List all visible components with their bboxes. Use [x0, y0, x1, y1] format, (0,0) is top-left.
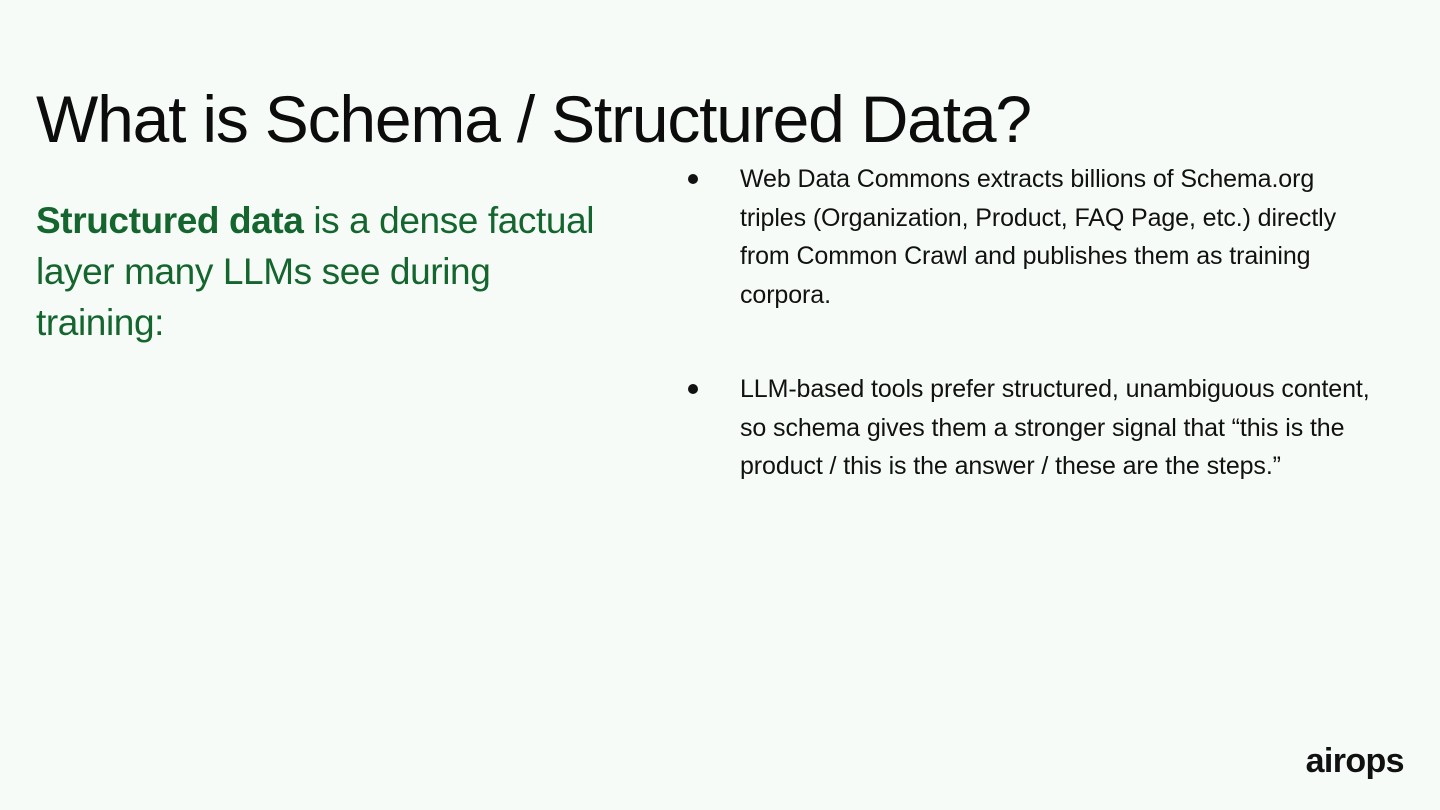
lede-strong-text: Structured data — [36, 200, 303, 241]
list-item-text: Web Data Commons extracts billions of Sc… — [740, 160, 1386, 314]
list-item-text: LLM-based tools prefer structured, unamb… — [740, 370, 1386, 486]
list-item: LLM-based tools prefer structured, unamb… — [686, 370, 1386, 486]
page-title: What is Schema / Structured Data? — [36, 80, 1376, 158]
bullet-list: Web Data Commons extracts billions of Sc… — [686, 160, 1386, 486]
airops-logo: airops — [1306, 744, 1404, 778]
bullet-dot-icon — [688, 384, 698, 394]
left-column: Structured data is a dense factual layer… — [36, 158, 596, 385]
lede-paragraph: Structured data is a dense factual layer… — [36, 195, 596, 348]
airops-wordmark: airops — [1306, 744, 1404, 778]
slide: What is Schema / Structured Data? Struct… — [0, 0, 1440, 810]
bullet-dot-icon — [688, 174, 698, 184]
list-item: Web Data Commons extracts billions of Sc… — [686, 160, 1386, 314]
right-column: Web Data Commons extracts billions of Sc… — [686, 160, 1386, 486]
